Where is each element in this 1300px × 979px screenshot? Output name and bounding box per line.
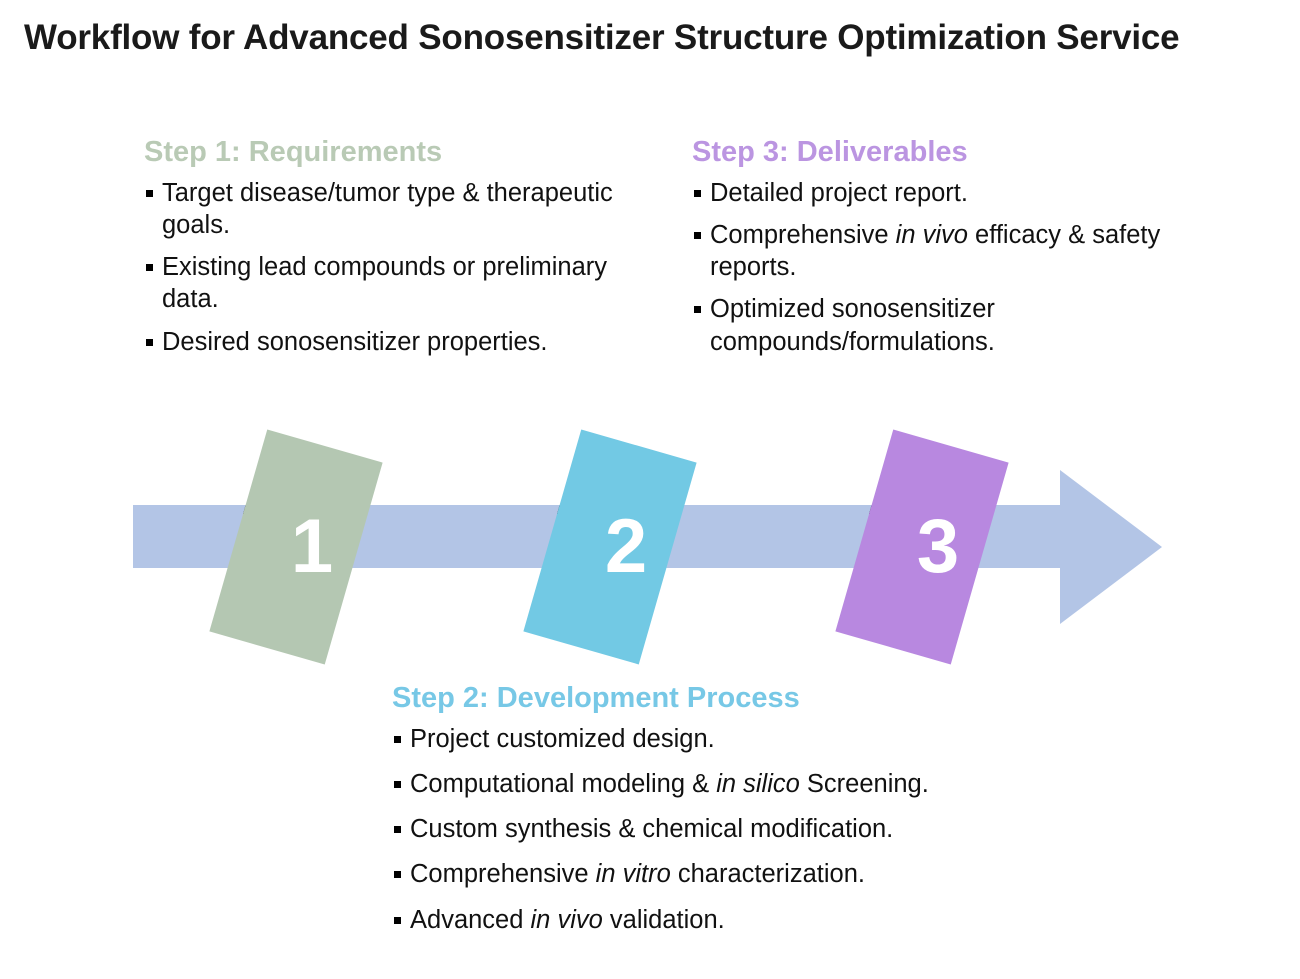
- italic-term: in silico: [716, 770, 800, 798]
- tile-3-number: 3: [917, 504, 959, 589]
- bullet-square-icon: [146, 264, 153, 271]
- step-block-3: Step 3: Deliverables Detailed project re…: [692, 136, 1172, 368]
- bullet-item: Desired sonosensitizer properties.: [144, 326, 614, 358]
- bullet-text: Comprehensive in vivo efficacy & safety …: [710, 221, 1160, 281]
- bullet-item: Advanced in vivo validation.: [392, 904, 1072, 936]
- bullet-text: Project customized design.: [410, 725, 715, 753]
- arrow-tile-3[interactable]: 3: [835, 430, 1008, 665]
- tile-1-number: 1: [291, 504, 333, 589]
- bullet-item: Optimized sonosensitizer compounds/formu…: [692, 293, 1172, 357]
- bullet-square-icon: [146, 190, 153, 197]
- step-3-heading: Step 3: Deliverables: [692, 136, 1172, 169]
- step-3-bullet-list: Detailed project report.Comprehensive in…: [692, 177, 1172, 358]
- bullet-square-icon: [146, 339, 153, 346]
- bullet-square-icon: [694, 232, 701, 239]
- bullet-text: Target disease/tumor type & therapeutic …: [162, 179, 613, 239]
- bullet-item: Computational modeling & in silico Scree…: [392, 768, 1072, 800]
- bullet-text: Detailed project report.: [710, 179, 968, 207]
- step-block-1: Step 1: Requirements Target disease/tumo…: [144, 136, 614, 368]
- bullet-square-icon: [694, 190, 701, 197]
- bullet-text: Comprehensive in vitro characterization.: [410, 860, 865, 888]
- bullet-square-icon: [394, 736, 401, 743]
- step-1-bullet-list: Target disease/tumor type & therapeutic …: [144, 177, 614, 358]
- bullet-square-icon: [394, 781, 401, 788]
- bullet-text: Advanced in vivo validation.: [410, 906, 725, 934]
- bullet-item: Detailed project report.: [692, 177, 1172, 209]
- step-block-2: Step 2: Development Process Project cust…: [392, 682, 1072, 949]
- page-title: Workflow for Advanced Sonosensitizer Str…: [24, 18, 1284, 58]
- bullet-item: Existing lead compounds or preliminary d…: [144, 251, 614, 315]
- step-1-heading: Step 1: Requirements: [144, 136, 614, 169]
- arrow-tile-2[interactable]: 2: [523, 430, 696, 665]
- bullet-square-icon: [694, 306, 701, 313]
- step-2-heading: Step 2: Development Process: [392, 682, 1072, 715]
- step-2-bullet-list: Project customized design.Computational …: [392, 723, 1072, 936]
- bullet-square-icon: [394, 917, 401, 924]
- bullet-square-icon: [394, 826, 401, 833]
- bullet-item: Comprehensive in vitro characterization.: [392, 858, 1072, 890]
- arrow-tile-1[interactable]: 1: [209, 430, 382, 665]
- bullet-item: Project customized design.: [392, 723, 1072, 755]
- italic-term: in vivo: [531, 906, 603, 934]
- bullet-square-icon: [394, 871, 401, 878]
- italic-term: in vitro: [596, 860, 671, 888]
- bullet-item: Target disease/tumor type & therapeutic …: [144, 177, 614, 241]
- italic-term: in vivo: [896, 221, 968, 249]
- bullet-text: Optimized sonosensitizer compounds/formu…: [710, 295, 995, 355]
- tile-2-number: 2: [605, 504, 647, 589]
- bullet-item: Comprehensive in vivo efficacy & safety …: [692, 219, 1172, 283]
- bullet-text: Computational modeling & in silico Scree…: [410, 770, 929, 798]
- bullet-text: Existing lead compounds or preliminary d…: [162, 253, 607, 313]
- process-arrow-graphic: 1 2 3: [0, 420, 1300, 680]
- bullet-item: Custom synthesis & chemical modification…: [392, 813, 1072, 845]
- bullet-text: Custom synthesis & chemical modification…: [410, 815, 893, 843]
- bullet-text: Desired sonosensitizer properties.: [162, 328, 548, 356]
